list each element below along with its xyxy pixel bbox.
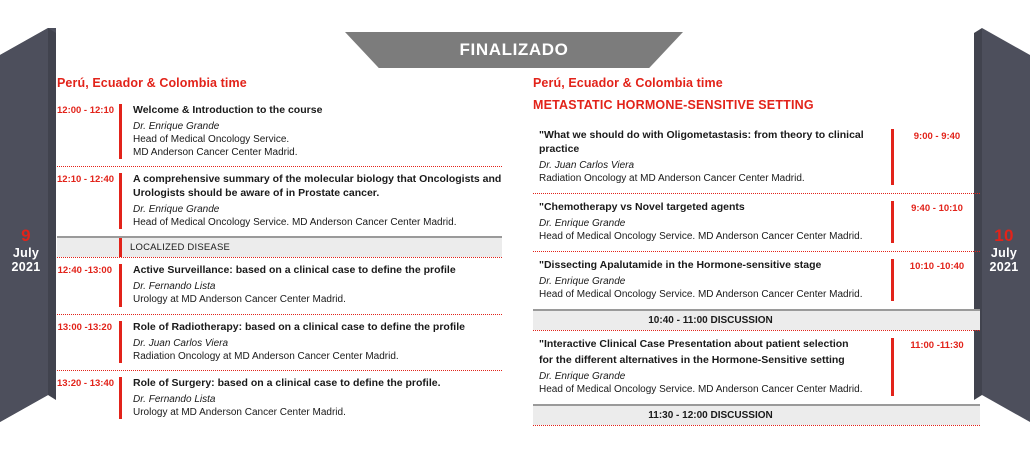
agenda-row-affiliation: Urology at MD Anderson Cancer Center Mad… [133,406,502,419]
agenda-row-time: 13:20 - 13:40 [57,377,119,389]
left-agenda-rows: 12:00 - 12:10Welcome & Introduction to t… [57,98,502,426]
agenda-row-title: Active Surveillance: based on a clinical… [133,264,502,278]
agenda-row-speaker: Dr. Enrique Grande [539,370,879,383]
agenda-row-speaker: Dr. Juan Carlos Viera [133,337,502,350]
agenda-row: 13:20 - 13:40Role of Surgery: based on a… [57,370,502,426]
agenda-row-affiliation: Urology at MD Anderson Cancer Center Mad… [133,293,502,306]
agenda-row-affiliation: Head of Medical Oncology Service. MD And… [539,230,879,243]
agenda-row: 12:40 -13:00Active Surveillance: based o… [57,258,502,313]
agenda-row: "What we should do with Oligometastasis:… [533,122,980,193]
agenda-row-title: Role of Surgery: based on a clinical cas… [133,377,502,391]
agenda-row-body: "What we should do with Oligometastasis:… [533,129,891,185]
agenda-row-speaker: Dr. Enrique Grande [133,203,502,216]
right-agenda-rows: "What we should do with Oligometastasis:… [533,122,980,426]
right-section-heading: METASTATIC HORMONE-SENSITIVE SETTING [533,98,980,112]
agenda-row-title: "Chemotherapy vs Novel targeted agents [539,201,879,215]
discussion-band-label: 10:40 - 11:00 DISCUSSION [533,315,980,326]
agenda-row-body: Welcome & Introduction to the courseDr. … [122,104,502,159]
agenda-row-body: "Chemotherapy vs Novel targeted agentsDr… [533,201,891,243]
agenda-row-time: 12:40 -13:00 [57,264,119,276]
agenda-row-affiliation: MD Anderson Cancer Center Madrid. [133,146,502,159]
agenda-row-affiliation: Radiation Oncology at MD Anderson Cancer… [539,172,879,185]
left-timezone-heading: Perú, Ecuador & Colombia time [57,76,502,90]
discussion-band-label: 11:30 - 12:00 DISCUSSION [533,410,980,421]
agenda-row-title: Role of Radiotherapy: based on a clinica… [133,321,502,335]
section-band: LOCALIZED DISEASE [57,236,502,257]
right-date-month: July [982,246,1026,260]
agenda-row-speaker: Dr. Enrique Grande [133,120,502,133]
agenda-poster: 9 July 2021 10 July 2021 FINALIZADO Perú… [0,0,1030,450]
agenda-row-time: 12:00 - 12:10 [57,104,119,116]
agenda-row-affiliation: Radiation Oncology at MD Anderson Cancer… [133,350,502,363]
agenda-row-title: "Interactive Clinical Case Presentation … [539,338,879,352]
row-separator [533,425,980,426]
left-date-month: July [4,246,48,260]
left-date-label: 9 July 2021 [4,226,48,274]
agenda-row: "Dissecting Apalutamide in the Hormone-s… [533,251,980,309]
agenda-row-body: Active Surveillance: based on a clinical… [122,264,502,306]
right-date-label: 10 July 2021 [982,226,1026,274]
agenda-row-title: Welcome & Introduction to the course [133,104,502,118]
agenda-row-body: A comprehensive summary of the molecular… [122,173,502,229]
agenda-row-title: A comprehensive summary of the molecular… [133,173,502,201]
agenda-row: 13:00 -13:20Role of Radiotherapy: based … [57,314,502,370]
right-timezone-heading: Perú, Ecuador & Colombia time [533,76,980,90]
agenda-row-speaker: Dr. Enrique Grande [539,275,879,288]
agenda-row-title: "What we should do with Oligometastasis:… [539,129,879,157]
status-banner: FINALIZADO [345,32,683,68]
agenda-row-affiliation: Head of Medical Oncology Service. MD And… [539,383,879,396]
agenda-row: 12:00 - 12:10Welcome & Introduction to t… [57,98,502,166]
agenda-row-affiliation: Head of Medical Oncology Service. [133,133,502,146]
agenda-row-time: 11:00 -11:30 [894,338,980,351]
agenda-row-body: "Interactive Clinical Case Presentation … [533,338,891,396]
day-1-agenda-column: Perú, Ecuador & Colombia time 12:00 - 12… [57,76,502,426]
discussion-band: 10:40 - 11:00 DISCUSSION [533,309,980,330]
agenda-row: "Interactive Clinical Case Presentation … [533,331,980,404]
agenda-row-speaker: Dr. Fernando Lista [133,280,502,293]
agenda-row: "Chemotherapy vs Novel targeted agentsDr… [533,193,980,251]
agenda-row-title-line-2: for the different alternatives in the Ho… [539,354,879,368]
agenda-row-time: 13:00 -13:20 [57,321,119,333]
agenda-row-speaker: Dr. Juan Carlos Viera [539,159,879,172]
status-banner-label: FINALIZADO [345,32,683,68]
day-2-agenda-column: Perú, Ecuador & Colombia time METASTATIC… [533,76,980,426]
discussion-band: 11:30 - 12:00 DISCUSSION [533,404,980,425]
agenda-row-time: 9:40 - 10:10 [894,201,980,214]
agenda-row-affiliation: Head of Medical Oncology Service. MD And… [539,288,879,301]
agenda-row-time: 12:10 - 12:40 [57,173,119,185]
agenda-row-time: 10:10 -10:40 [894,259,980,272]
agenda-row-time: 9:00 - 9:40 [894,129,980,142]
right-date-year: 2021 [982,260,1026,274]
agenda-row-speaker: Dr. Enrique Grande [539,217,879,230]
agenda-row-affiliation: Head of Medical Oncology Service. MD And… [133,216,502,229]
red-rail [119,238,122,257]
right-date-day: 10 [982,226,1026,246]
section-band-label: LOCALIZED DISEASE [57,242,230,253]
agenda-row-body: Role of Radiotherapy: based on a clinica… [122,321,502,363]
left-date-day: 9 [4,226,48,246]
agenda-row: 12:10 - 12:40A comprehensive summary of … [57,166,502,236]
agenda-row-title: "Dissecting Apalutamide in the Hormone-s… [539,259,879,273]
left-date-year: 2021 [4,260,48,274]
agenda-row-body: "Dissecting Apalutamide in the Hormone-s… [533,259,891,301]
agenda-row-speaker: Dr. Fernando Lista [133,393,502,406]
agenda-row-body: Role of Surgery: based on a clinical cas… [122,377,502,419]
